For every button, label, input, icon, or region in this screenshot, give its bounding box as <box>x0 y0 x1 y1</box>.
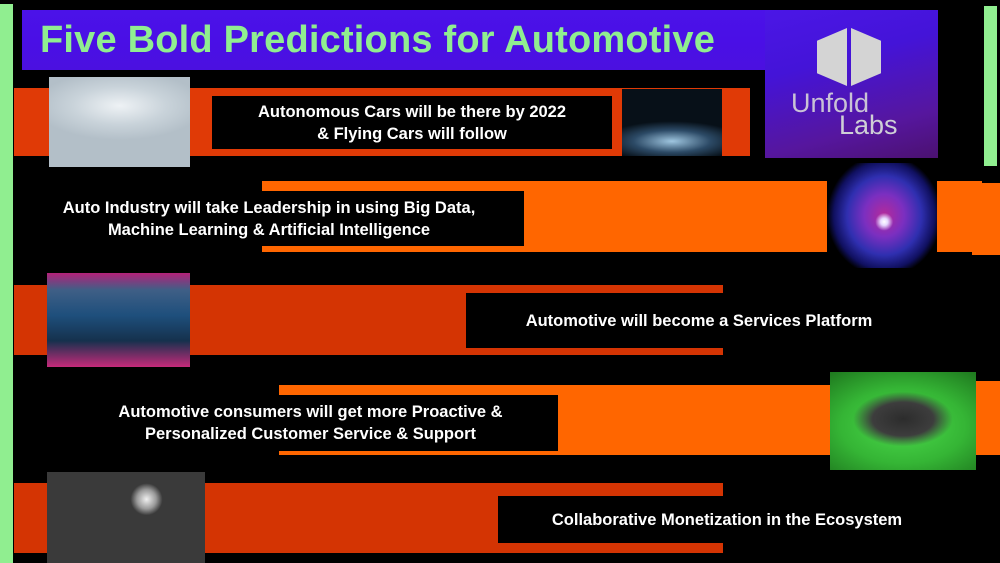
prediction-textbox-4: Automotive consumers will get more Proac… <box>63 395 558 451</box>
prediction-textbox-2: Auto Industry will take Leadership in us… <box>14 191 524 246</box>
prediction-textbox-5: Collaborative Monetization in the Ecosys… <box>498 496 956 543</box>
prediction-text-5: Collaborative Monetization in the Ecosys… <box>552 509 902 531</box>
left-green-accent-bar <box>0 4 13 563</box>
prediction-text-2: Auto Industry will take Leadership in us… <box>63 197 476 241</box>
blue-supercar-photo <box>47 273 190 367</box>
white-sports-car-photo <box>49 77 190 167</box>
page-title: Five Bold Predictions for Automotive <box>22 19 715 62</box>
logo-word-labs: Labs <box>839 110 898 141</box>
unfoldlabs-hexagon-icon <box>817 24 883 90</box>
unfoldlabs-logo: Unfold Labs <box>765 10 938 158</box>
title-bar: Five Bold Predictions for Automotive <box>22 10 790 70</box>
purple-vortex-wheel-photo <box>827 163 937 268</box>
flying-car-over-water-photo <box>622 89 722 156</box>
slide-canvas: Five Bold Predictions for Automotive Unf… <box>0 0 1000 563</box>
prediction-text-3: Automotive will become a Services Platfo… <box>526 310 873 332</box>
green-beetle-engine-photo <box>830 372 976 470</box>
engine-bay-grayscale-photo <box>47 472 205 563</box>
right-green-accent-bar <box>984 6 997 166</box>
hexagon-left-panel-icon <box>817 28 847 86</box>
prediction-text-4: Automotive consumers will get more Proac… <box>118 401 502 445</box>
prediction-textbox-3: Automotive will become a Services Platfo… <box>466 293 932 348</box>
prediction-text-1: Autonomous Cars will be there by 2022 & … <box>258 101 566 145</box>
prediction-textbox-1: Autonomous Cars will be there by 2022 & … <box>212 96 612 149</box>
hexagon-right-panel-icon <box>851 28 881 86</box>
